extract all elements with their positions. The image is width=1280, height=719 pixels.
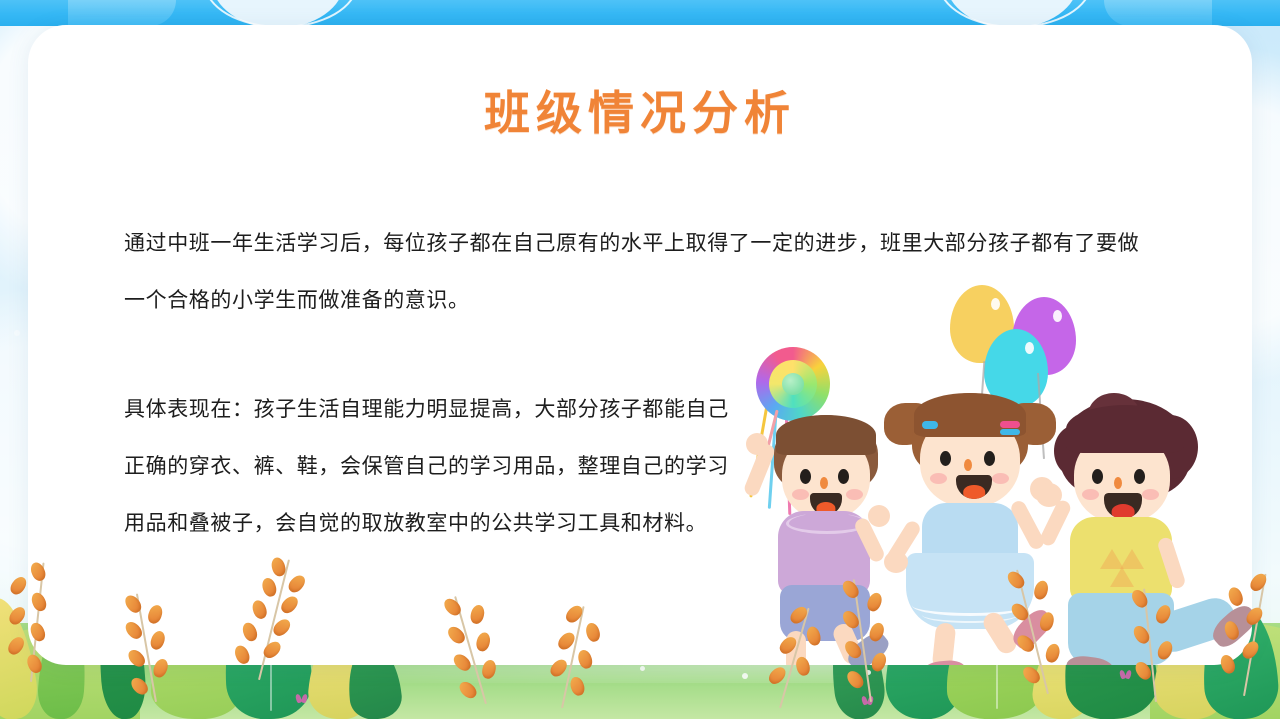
page-title: 班级情况分析 <box>28 77 1252 143</box>
sky-speck <box>14 330 20 336</box>
top-banner <box>0 0 1280 26</box>
content-card: 班级情况分析 通过中班一年生活学习后，每位孩子都在自己原有的水平上取得了一定的进… <box>28 25 1252 665</box>
wheat-stalk <box>1104 584 1195 706</box>
paragraph-2: 具体表现在：孩子生活自理能力明显提高，大部分孩子都能自己正确的穿衣、裤、鞋，会保… <box>124 381 742 552</box>
wheat-stalk <box>0 559 78 686</box>
butterfly-icon <box>296 694 307 703</box>
banner-brush-right <box>1104 0 1212 26</box>
slide-root: 班级情况分析 通过中班一年生活学习后，每位孩子都在自己原有的水平上取得了一定的进… <box>0 0 1280 719</box>
banner-brush-left <box>68 0 176 26</box>
